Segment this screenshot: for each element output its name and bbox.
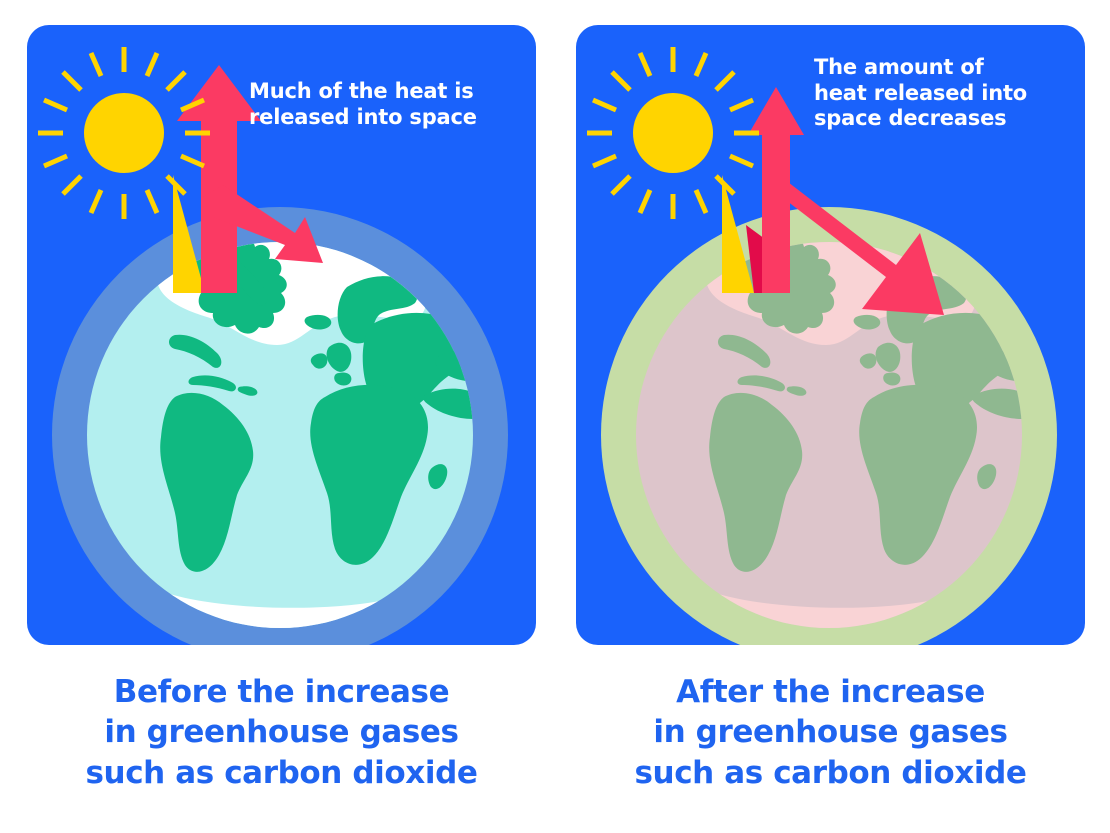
sun-disc bbox=[84, 93, 164, 173]
caption-after: After the increase in greenhouse gases s… bbox=[576, 672, 1085, 793]
caption-before: Before the increase in greenhouse gases … bbox=[27, 672, 536, 793]
scene-after bbox=[576, 25, 1085, 645]
panel-after: The amount of heat released into space d… bbox=[576, 25, 1085, 645]
diagram-stage: Much of the heat is released into space bbox=[0, 0, 1110, 833]
sun-disc bbox=[633, 93, 713, 173]
panel-before: Much of the heat is released into space bbox=[27, 25, 536, 645]
scene-before bbox=[27, 25, 536, 645]
